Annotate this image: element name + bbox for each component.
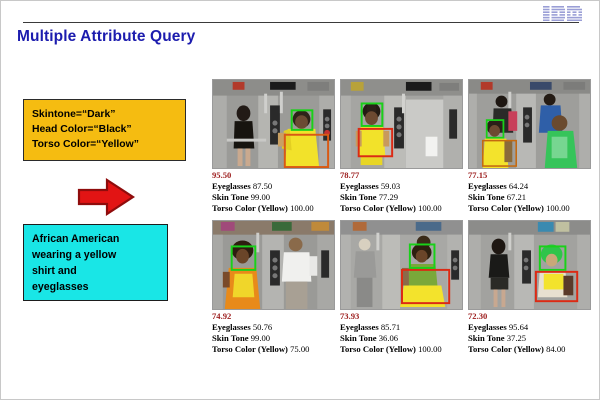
- attr-eyeglasses: Eyeglasses 85.71: [340, 322, 463, 333]
- attr-value-torso-color: 84.00: [546, 344, 565, 354]
- attr-eyeglasses: Eyeglasses 95.64: [468, 322, 591, 333]
- result-row: 74.92 Eyeglasses 50.76 Skin Tone 99.00 T…: [212, 220, 591, 355]
- query-description-box: African American wearing a yellow shirt …: [23, 224, 168, 301]
- desc-line-4: eyeglasses: [32, 279, 167, 295]
- attr-value-skin-tone: 77.29: [379, 192, 398, 202]
- attr-label-skin-tone: Skin Tone: [340, 192, 377, 202]
- attr-label-skin-tone: Skin Tone: [212, 192, 249, 202]
- slide-canvas: Multiple Attribute Query Skintone=“Dark”…: [0, 0, 600, 400]
- result-cell[interactable]: 73.93 Eyeglasses 85.71 Skin Tone 36.06 T…: [340, 220, 463, 355]
- attr-value-eyeglasses: 64.24: [509, 181, 528, 191]
- attr-torso-color: Torso Color (Yellow) 75.00: [212, 344, 335, 355]
- desc-line-2: wearing a yellow: [32, 247, 167, 263]
- attr-value-torso-color: 75.00: [290, 344, 309, 354]
- attr-skin-tone: Skin Tone 77.29: [340, 192, 463, 203]
- attr-label-eyeglasses: Eyeglasses: [212, 322, 251, 332]
- attr-skin-tone: Skin Tone 99.00: [212, 192, 335, 203]
- attr-torso-color: Torso Color (Yellow) 100.00: [340, 344, 463, 355]
- attr-label-torso-color: Torso Color (Yellow): [340, 344, 416, 354]
- attr-label-skin-tone: Skin Tone: [212, 333, 249, 343]
- attr-value-torso-color: 100.00: [546, 203, 570, 213]
- header-divider: [23, 22, 579, 23]
- attr-value-torso-color: 100.00: [290, 203, 314, 213]
- attr-skin-tone: Skin Tone 99.00: [212, 333, 335, 344]
- attr-value-eyeglasses: 85.71: [381, 322, 400, 332]
- attr-value-eyeglasses: 50.76: [253, 322, 272, 332]
- attr-eyeglasses: Eyeglasses 59.03: [340, 181, 463, 192]
- query-line-torso-color: Torso Color=“Yellow”: [32, 137, 185, 152]
- attr-value-skin-tone: 37.25: [507, 333, 526, 343]
- attr-value-skin-tone: 99.00: [251, 333, 270, 343]
- result-cell[interactable]: 78.77 Eyeglasses 59.03 Skin Tone 77.29 T…: [340, 79, 463, 214]
- desc-line-1: African American: [32, 231, 167, 247]
- match-score: 77.15: [468, 170, 591, 181]
- attr-eyeglasses: Eyeglasses 64.24: [468, 181, 591, 192]
- match-score: 74.92: [212, 311, 335, 322]
- query-line-skintone: Skintone=“Dark”: [32, 107, 185, 122]
- page-title: Multiple Attribute Query: [17, 28, 195, 46]
- result-cell[interactable]: 95.50 Eyeglasses 87.50 Skin Tone 99.00 T…: [212, 79, 335, 214]
- attr-value-torso-color: 100.00: [418, 344, 442, 354]
- match-score: 78.77: [340, 170, 463, 181]
- result-cell[interactable]: 72.30 Eyeglasses 95.64 Skin Tone 37.25 T…: [468, 220, 591, 355]
- attr-skin-tone: Skin Tone 67.21: [468, 192, 591, 203]
- results-grid: 95.50 Eyeglasses 87.50 Skin Tone 99.00 T…: [212, 79, 591, 355]
- query-line-head-color: Head Color=“Black”: [32, 122, 185, 137]
- surveillance-thumbnail[interactable]: [212, 220, 335, 310]
- result-cell[interactable]: 77.15 Eyeglasses 64.24 Skin Tone 67.21 T…: [468, 79, 591, 214]
- attr-eyeglasses: Eyeglasses 87.50: [212, 181, 335, 192]
- surveillance-thumbnail[interactable]: [468, 79, 591, 169]
- attr-label-skin-tone: Skin Tone: [340, 333, 377, 343]
- attr-label-torso-color: Torso Color (Yellow): [468, 344, 544, 354]
- attr-value-eyeglasses: 95.64: [509, 322, 528, 332]
- attr-torso-color: Torso Color (Yellow) 100.00: [468, 203, 591, 214]
- result-cell[interactable]: 74.92 Eyeglasses 50.76 Skin Tone 99.00 T…: [212, 220, 335, 355]
- attr-value-eyeglasses: 59.03: [381, 181, 400, 191]
- attr-value-torso-color: 100.00: [418, 203, 442, 213]
- attribute-query-box: Skintone=“Dark” Head Color=“Black” Torso…: [23, 99, 186, 161]
- attr-label-skin-tone: Skin Tone: [468, 333, 505, 343]
- attr-label-skin-tone: Skin Tone: [468, 192, 505, 202]
- attr-label-eyeglasses: Eyeglasses: [340, 181, 379, 191]
- attr-value-skin-tone: 67.21: [507, 192, 526, 202]
- attr-skin-tone: Skin Tone 36.06: [340, 333, 463, 344]
- surveillance-thumbnail[interactable]: [340, 220, 463, 310]
- attr-label-eyeglasses: Eyeglasses: [212, 181, 251, 191]
- match-score: 73.93: [340, 311, 463, 322]
- attr-value-skin-tone: 36.06: [379, 333, 398, 343]
- attr-label-eyeglasses: Eyeglasses: [468, 322, 507, 332]
- attr-label-torso-color: Torso Color (Yellow): [212, 203, 288, 213]
- surveillance-thumbnail[interactable]: [468, 220, 591, 310]
- attr-torso-color: Torso Color (Yellow) 100.00: [212, 203, 335, 214]
- red-arrow-icon: [77, 177, 135, 217]
- match-score: 72.30: [468, 311, 591, 322]
- surveillance-thumbnail[interactable]: [212, 79, 335, 169]
- attr-label-eyeglasses: Eyeglasses: [468, 181, 507, 191]
- attr-value-eyeglasses: 87.50: [253, 181, 272, 191]
- surveillance-thumbnail[interactable]: [340, 79, 463, 169]
- desc-line-3: shirt and: [32, 263, 167, 279]
- attr-label-torso-color: Torso Color (Yellow): [468, 203, 544, 213]
- attr-skin-tone: Skin Tone 37.25: [468, 333, 591, 344]
- result-row: 95.50 Eyeglasses 87.50 Skin Tone 99.00 T…: [212, 79, 591, 214]
- attr-value-skin-tone: 99.00: [251, 192, 270, 202]
- match-score: 95.50: [212, 170, 335, 181]
- attr-torso-color: Torso Color (Yellow) 100.00: [340, 203, 463, 214]
- attr-torso-color: Torso Color (Yellow) 84.00: [468, 344, 591, 355]
- attr-eyeglasses: Eyeglasses 50.76: [212, 322, 335, 333]
- ibm-logo: [543, 6, 587, 21]
- attr-label-torso-color: Torso Color (Yellow): [212, 344, 288, 354]
- attr-label-torso-color: Torso Color (Yellow): [340, 203, 416, 213]
- attr-label-eyeglasses: Eyeglasses: [340, 322, 379, 332]
